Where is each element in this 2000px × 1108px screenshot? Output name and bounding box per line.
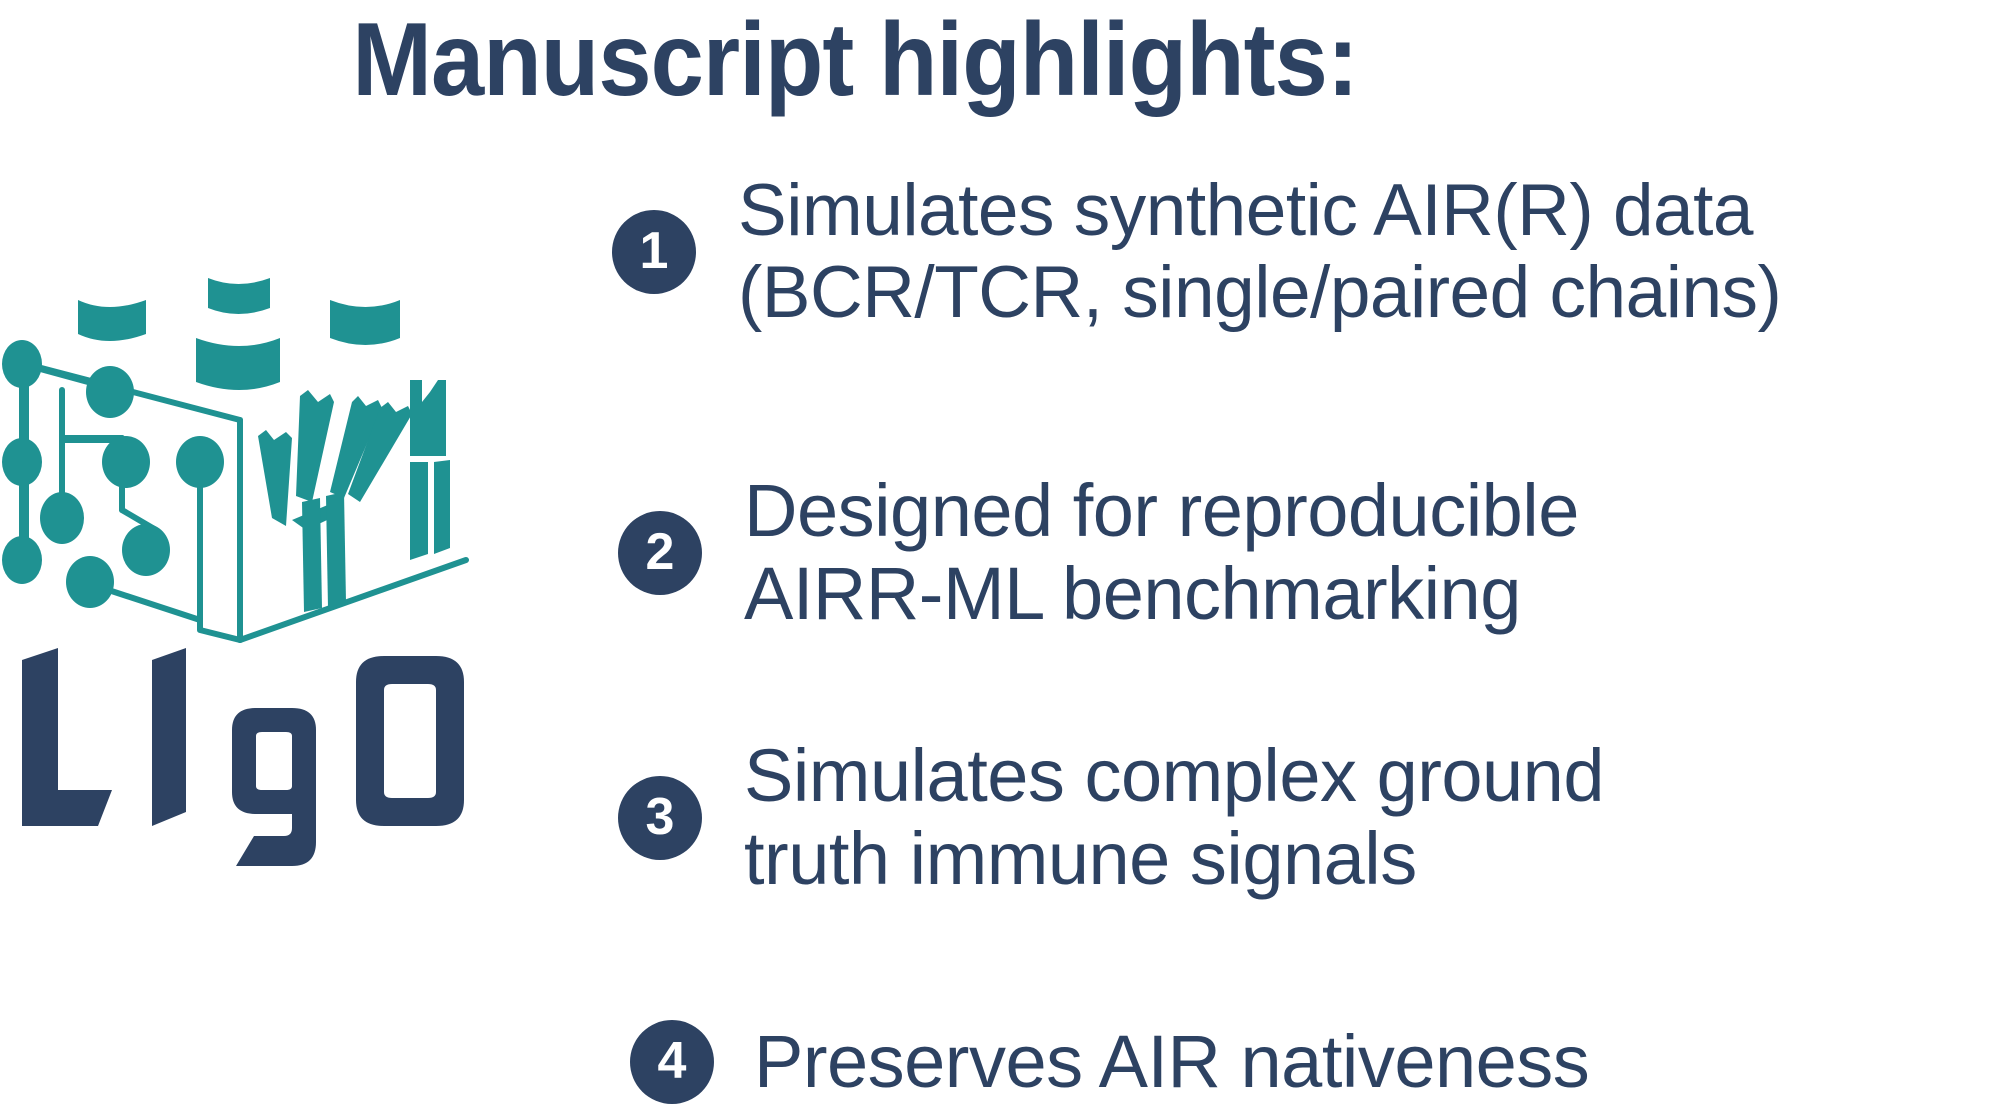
highlight-item-1: 1 Simulates synthetic AIR(R) data (BCR/T… xyxy=(612,170,1781,334)
highlight-text-4: Preserves AIR nativeness xyxy=(754,1021,1589,1104)
highlight-badge-1: 1 xyxy=(612,210,696,294)
highlight-badge-4: 4 xyxy=(630,1020,714,1104)
highlight-line: Preserves AIR nativeness xyxy=(754,1021,1589,1104)
highlight-item-2: 2 Designed for reproducible AIRR-ML benc… xyxy=(618,470,1579,636)
highlight-text-3: Simulates complex ground truth immune si… xyxy=(744,735,1604,901)
highlight-item-4: 4 Preserves AIR nativeness xyxy=(630,1020,1589,1104)
highlight-line: Simulates synthetic AIR(R) data xyxy=(738,170,1781,252)
highlight-line: Designed for reproducible xyxy=(744,470,1579,553)
highlight-badge-2: 2 xyxy=(618,511,702,595)
ligo-logo xyxy=(0,230,500,890)
ligo-wordmark xyxy=(0,630,500,890)
highlight-line: (BCR/TCR, single/paired chains) xyxy=(738,252,1781,334)
highlight-line: Simulates complex ground xyxy=(744,735,1604,818)
highlight-item-3: 3 Simulates complex ground truth immune … xyxy=(618,735,1604,901)
manuscript-highlights-slide: Manuscript highlights: xyxy=(0,0,2000,1108)
highlight-line: AIRR-ML benchmarking xyxy=(744,553,1579,636)
highlight-badge-3: 3 xyxy=(618,776,702,860)
highlight-text-2: Designed for reproducible AIRR-ML benchm… xyxy=(744,470,1579,636)
circuit-nodes xyxy=(2,340,224,608)
highlight-line: truth immune signals xyxy=(744,818,1604,901)
highlight-text-1: Simulates synthetic AIR(R) data (BCR/TCR… xyxy=(738,170,1781,334)
ligo-logo-mark xyxy=(0,230,500,650)
page-title: Manuscript highlights: xyxy=(68,6,1641,115)
